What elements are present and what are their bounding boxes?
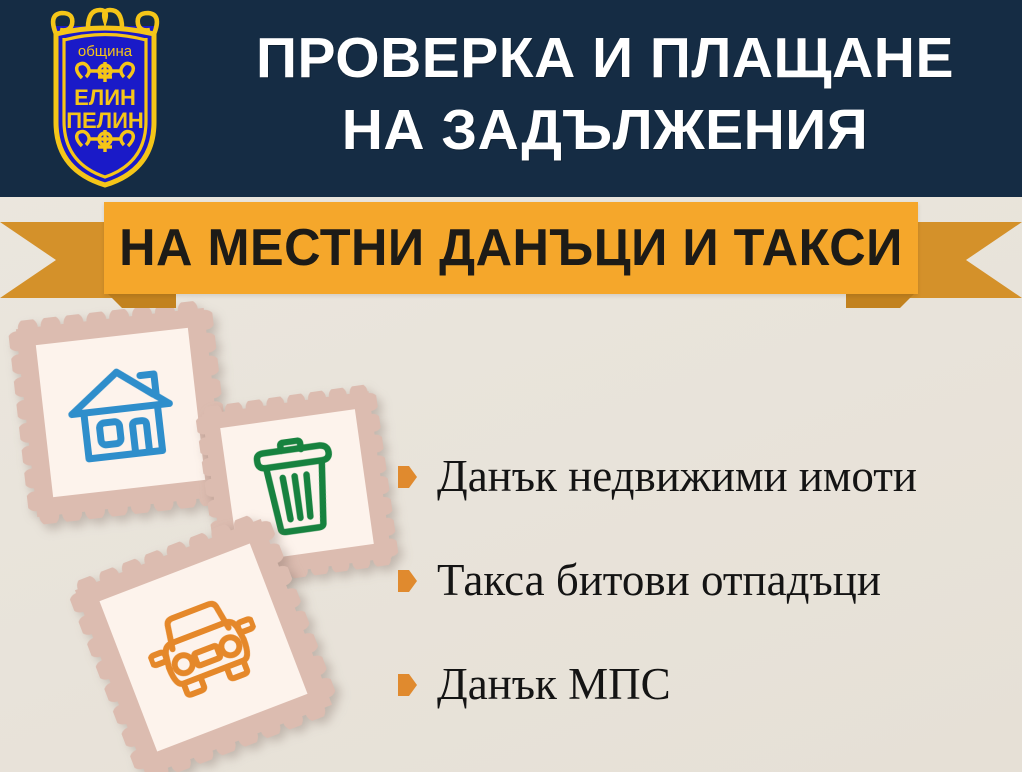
arrow-bullet-icon <box>398 466 417 488</box>
list-item[interactable]: Такса битови отпадъци <box>398 528 1018 632</box>
service-list: Данък недвижими имоти Такса битови отпад… <box>398 424 1018 736</box>
ribbon-banner: НА МЕСТНИ ДАНЪЦИ И ТАКСИ <box>0 198 1022 310</box>
header-content: община ЕЛИН ПЕЛИН ПРОВЕРКА И ПЛАЩАНЕ НА … <box>0 0 1022 197</box>
ribbon-body: НА МЕСТНИ ДАНЪЦИ И ТАКСИ <box>104 202 918 294</box>
arrow-bullet-icon <box>398 570 417 592</box>
list-item-label: Данък недвижими имоти <box>437 451 917 501</box>
list-item-label: Данък МПС <box>437 659 671 709</box>
crest-word-main-2: ПЕЛИН <box>66 108 144 133</box>
list-item[interactable]: Данък недвижими имоти <box>398 424 1018 528</box>
list-item[interactable]: Данък МПС <box>398 632 1018 736</box>
crest-word-top: община <box>78 43 133 60</box>
ribbon-label: НА МЕСТНИ ДАНЪЦИ И ТАКСИ <box>119 218 903 278</box>
page-title-line-1: ПРОВЕРКА И ПЛАЩАНЕ <box>190 22 1020 94</box>
crest-word-main-1: ЕЛИН <box>74 85 136 110</box>
page-title: ПРОВЕРКА И ПЛАЩАНЕ НА ЗАДЪЛЖЕНИЯ <box>190 22 1020 166</box>
arrow-bullet-icon <box>398 674 417 696</box>
municipality-crest-icon: община ЕЛИН ПЕЛИН <box>26 4 184 194</box>
list-item-label: Такса битови отпадъци <box>437 555 881 605</box>
poster-canvas: община ЕЛИН ПЕЛИН ПРОВЕРКА И ПЛАЩАНЕ НА … <box>0 0 1022 772</box>
page-title-line-2: НА ЗАДЪЛЖЕНИЯ <box>190 94 1020 166</box>
